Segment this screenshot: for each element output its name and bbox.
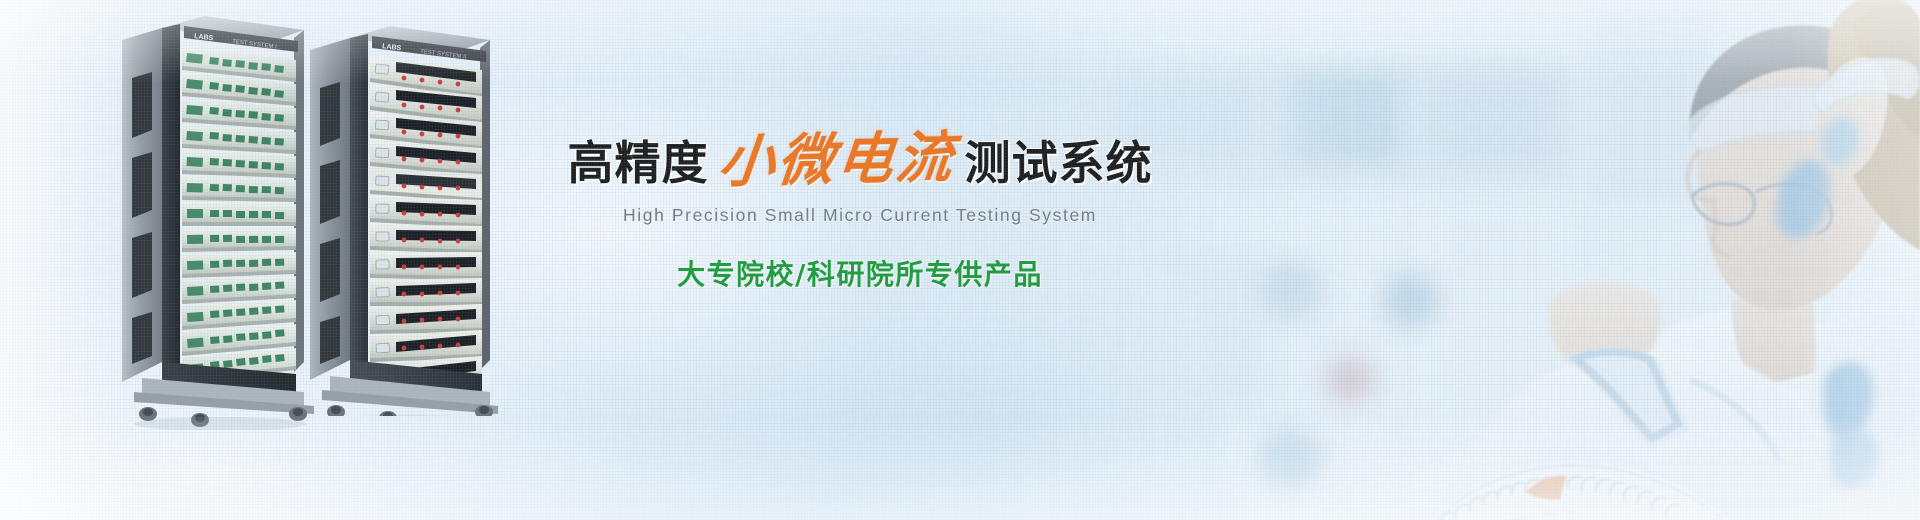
english-subtitle: High Precision Small Micro Current Testi…: [520, 205, 1200, 226]
headline-emphasis: 小微电流: [715, 130, 957, 191]
headline-suffix: 测试系统: [965, 140, 1153, 186]
svg-text:LABS: LABS: [382, 43, 402, 52]
headline: 高精度 小微电流 测试系统: [520, 132, 1200, 188]
banner-copy: 高精度 小微电流 测试系统 High Precision Small Micro…: [520, 132, 1200, 293]
svg-text:LABS: LABS: [194, 33, 214, 42]
instrument-rack-right: LABS TEST SYSTEM II: [300, 16, 500, 416]
product-banner: LABS TEST SYSTEM I: [0, 0, 1920, 520]
headline-prefix: 高精度: [568, 140, 709, 186]
tagline: 大专院校/科研院所专供产品: [520, 253, 1200, 293]
instrument-rack-left: LABS TEST SYSTEM I: [108, 10, 318, 430]
